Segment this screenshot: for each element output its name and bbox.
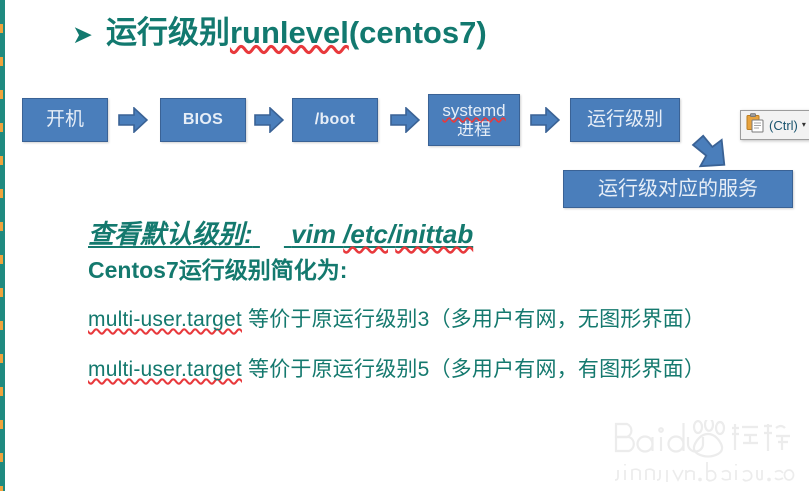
baidu-jingyan-watermark <box>612 420 797 482</box>
default-runlevel-command: vim /etc/inittab <box>291 219 473 249</box>
target-description: 等价于原运行级别5（多用户有网，有图形界面） <box>242 358 705 381</box>
default-runlevel-heading: 查看默认级别: vim /etc/inittab <box>88 214 473 251</box>
right-arrow-glyph <box>254 107 284 133</box>
list-item: multi-user.target 等价于原运行级别3（多用户有网，无图形界面） <box>88 303 705 333</box>
chevron-down-icon[interactable]: ▾ <box>802 121 806 129</box>
right-arrow-icon <box>254 107 284 133</box>
command-vim: vim <box>291 219 343 249</box>
flow-box-runlevel-services-label: 运行级对应的服务 <box>598 178 758 200</box>
paste-clipboard-icon[interactable] <box>746 113 765 138</box>
flow-box-systemd-label-line1: systemd <box>442 101 505 120</box>
target-description: 等价于原运行级别3（多用户有网，无图形界面） <box>242 308 705 331</box>
diagonal-down-right-arrow-icon <box>690 134 734 172</box>
list-item: multi-user.target 等价于原运行级别5（多用户有网，有图形界面） <box>88 353 705 383</box>
diagonal-down-right-arrow-glyph <box>690 134 734 172</box>
flow-box-boot-directory-label: /boot <box>315 111 356 129</box>
flow-box-bios-label: BIOS <box>183 111 223 129</box>
flow-box-runlevel: 运行级别 <box>570 98 680 142</box>
right-arrow-glyph <box>118 107 148 133</box>
flow-box-runlevel-services: 运行级对应的服务 <box>563 170 793 208</box>
flow-box-boot-directory: /boot <box>292 98 378 142</box>
flow-box-systemd-label-line2: 进程 <box>457 120 491 139</box>
right-arrow-icon <box>530 107 560 133</box>
paste-clipboard-glyph <box>746 113 765 133</box>
runlevel-boot-flowchart: 开机 BIOS /boot systemd 进程 运行级别 <box>0 0 809 220</box>
flow-box-bios: BIOS <box>160 98 246 142</box>
command-path-inittab: inittab <box>395 219 473 249</box>
right-arrow-glyph <box>390 107 420 133</box>
paste-options-popup[interactable]: (Ctrl) ▾ <box>740 110 809 140</box>
default-runlevel-label: 查看默认级别: <box>88 219 253 249</box>
target-name: multi-user.target <box>88 358 242 381</box>
paste-options-ctrl-label: (Ctrl) <box>769 118 798 133</box>
target-name: multi-user.target <box>88 308 242 331</box>
centos7-simplification-heading: Centos7运行级别简化为: <box>88 251 347 285</box>
flow-box-runlevel-label: 运行级别 <box>587 109 663 130</box>
watermark-glyph <box>612 420 797 482</box>
flow-box-systemd-process: systemd 进程 <box>428 94 520 146</box>
right-arrow-icon <box>118 107 148 133</box>
right-arrow-icon <box>390 107 420 133</box>
flow-box-boot: 开机 <box>22 98 108 142</box>
right-arrow-glyph <box>530 107 560 133</box>
flow-box-boot-label: 开机 <box>46 109 84 130</box>
command-path-etc: /etc <box>343 219 388 249</box>
